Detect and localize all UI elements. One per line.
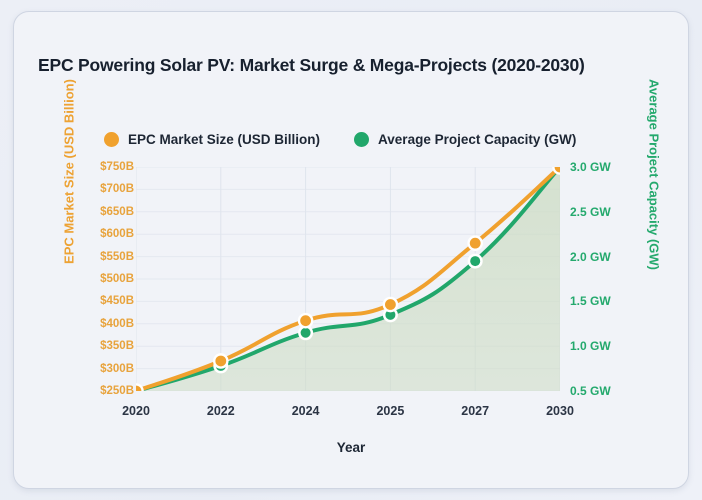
data-point-market[interactable] xyxy=(470,238,481,249)
x-axis-tick-label: 2030 xyxy=(546,404,574,418)
y-axis-left-tick-label: $350B xyxy=(100,340,134,352)
data-point-capacity[interactable] xyxy=(470,256,480,266)
y-axis-left-tick-label: $300B xyxy=(100,363,134,375)
data-point-market[interactable] xyxy=(215,356,226,367)
x-axis-tick-label: 2025 xyxy=(376,404,404,418)
legend-dot-orange-icon xyxy=(104,132,119,147)
y-axis-right-tick-label: 2.0 GW xyxy=(570,250,611,264)
x-axis-tick-label: 2020 xyxy=(122,404,150,418)
legend-dot-green-icon xyxy=(354,132,369,147)
chart-title: EPC Powering Solar PV: Market Surge & Me… xyxy=(38,55,585,76)
y-axis-left-tick-label: $400B xyxy=(100,318,134,330)
y-axis-left-tick-label: $450B xyxy=(100,295,134,307)
y-axis-left-tick-label: $600B xyxy=(100,228,134,240)
y-axis-left-tick-label: $750B xyxy=(100,161,134,173)
y-axis-right-ticks: 0.5 GW1.0 GW1.5 GW2.0 GW2.5 GW3.0 GW xyxy=(570,167,630,391)
x-axis-tick-label: 2022 xyxy=(207,404,235,418)
page-root: EPC Powering Solar PV: Market Surge & Me… xyxy=(0,0,702,500)
x-axis-tick-label: 2027 xyxy=(461,404,489,418)
data-point-market[interactable] xyxy=(385,299,396,310)
legend-label: Average Project Capacity (GW) xyxy=(378,132,576,147)
y-axis-left-tick-label: $700B xyxy=(100,183,134,195)
legend-item[interactable]: Average Project Capacity (GW) xyxy=(354,132,576,147)
y-axis-left-ticks: $250B$300B$350B$400B$450B$500B$550B$600B… xyxy=(92,167,134,391)
chart-svg xyxy=(136,167,560,391)
y-axis-right-tick-label: 1.5 GW xyxy=(570,294,611,308)
y-axis-right-tick-label: 2.5 GW xyxy=(570,205,611,219)
plot-area xyxy=(136,167,560,391)
x-axis-ticks: 202020222024202520272030 xyxy=(136,404,560,422)
y-axis-right-tick-label: 3.0 GW xyxy=(570,160,611,174)
y-axis-right-tick-label: 0.5 GW xyxy=(570,384,611,398)
y-axis-left-tick-label: $500B xyxy=(100,273,134,285)
legend-item[interactable]: EPC Market Size (USD Billion) xyxy=(104,132,320,147)
y-axis-left-tick-label: $250B xyxy=(100,385,134,397)
x-axis-title: Year xyxy=(14,440,688,455)
y-axis-left-title: EPC Market Size (USD Billion) xyxy=(62,57,77,287)
y-axis-right-tick-label: 1.0 GW xyxy=(570,339,611,353)
y-axis-left-tick-label: $550B xyxy=(100,251,134,263)
chart-card: EPC Powering Solar PV: Market Surge & Me… xyxy=(13,11,689,489)
data-point-capacity[interactable] xyxy=(301,328,311,338)
chart-legend: EPC Market Size (USD Billion)Average Pro… xyxy=(104,132,576,147)
x-axis-tick-label: 2024 xyxy=(292,404,320,418)
y-axis-left-tick-label: $650B xyxy=(100,206,134,218)
legend-label: EPC Market Size (USD Billion) xyxy=(128,132,320,147)
data-point-market[interactable] xyxy=(300,315,311,326)
y-axis-right-title: Average Project Capacity (GW) xyxy=(647,55,662,295)
